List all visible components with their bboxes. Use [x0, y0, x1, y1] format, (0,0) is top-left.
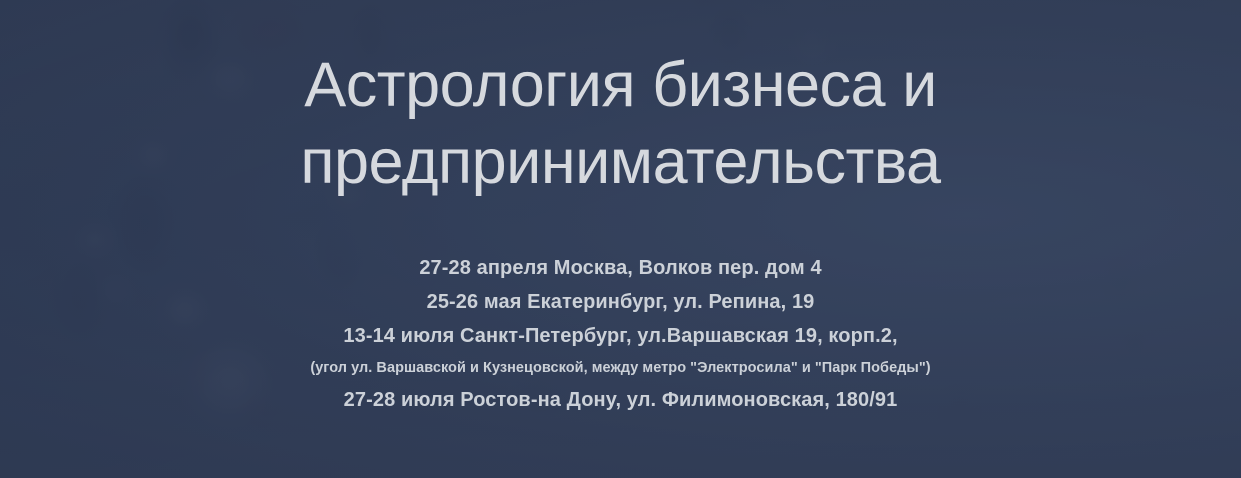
hero-banner: Астрология бизнеса и предпринимательства… [0, 0, 1241, 478]
page-title-line-1: Астрология бизнеса и [0, 48, 1241, 123]
page-title-line-2: предпринимательства [0, 125, 1241, 200]
schedule-line-ekaterinburg: 25-26 мая Екатеринбург, ул. Репина, 19 [427, 285, 815, 319]
schedule-line-rostov: 27-28 июля Ростов-на Дону, ул. Филимонов… [344, 383, 898, 417]
hero-content: Астрология бизнеса и предпринимательства… [0, 0, 1241, 478]
schedule-line-moscow: 27-28 апреля Москва, Волков пер. дом 4 [419, 251, 821, 285]
schedule-line-saint-petersburg: 13-14 июля Санкт-Петербург, ул.Варшавска… [343, 319, 897, 353]
schedule-line-saint-petersburg-note: (угол ул. Варшавской и Кузнецовской, меж… [310, 353, 930, 383]
